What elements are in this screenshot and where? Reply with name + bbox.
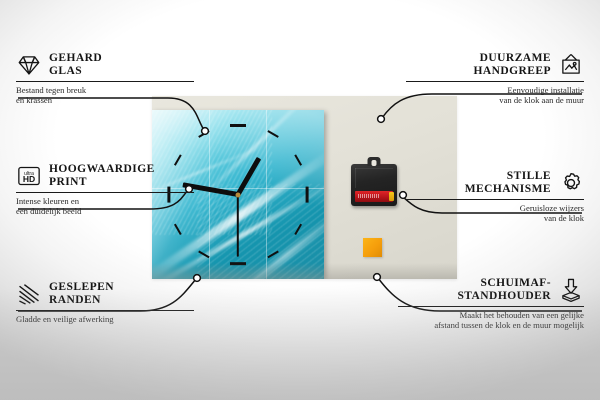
title-line-2: RANDEN bbox=[49, 294, 114, 307]
divider bbox=[16, 310, 194, 311]
desc-line-2: van de klok aan de muur bbox=[406, 95, 584, 105]
clock-mechanism bbox=[351, 164, 397, 206]
hanging-frame-icon bbox=[558, 52, 584, 78]
title-line-2: STANDHOUDER bbox=[457, 290, 551, 303]
feature-hoogwaardige-print: ultra HD HOOGWAARDIGE PRINT Intense kleu… bbox=[16, 163, 194, 217]
divider bbox=[16, 81, 194, 82]
feature-title: HOOGWAARDIGE PRINT bbox=[49, 163, 155, 188]
hour-marker bbox=[230, 124, 246, 127]
feature-description: Bestand tegen breuk en krassen bbox=[16, 85, 194, 106]
divider bbox=[398, 306, 584, 307]
title-line-2: HANDGREEP bbox=[473, 65, 551, 78]
diamond-icon bbox=[16, 52, 42, 78]
title-line-1: HOOGWAARDIGE bbox=[49, 163, 155, 176]
title-line-1: SCHUIMAF- bbox=[457, 277, 551, 290]
title-line-2: PRINT bbox=[49, 176, 155, 189]
feature-heading: DUURZAME HANDGREEP bbox=[406, 52, 584, 78]
feature-description: Gladde en veilige afwerking bbox=[16, 314, 194, 324]
feature-description: Maakt het behouden van een gelijke afsta… bbox=[398, 310, 584, 331]
desc-line-1: Intense kleuren en bbox=[16, 196, 194, 206]
feature-description: Intense kleuren en een duidelijk beeld bbox=[16, 196, 194, 217]
title-line-2: GLAS bbox=[49, 65, 102, 78]
divider bbox=[406, 199, 584, 200]
arrow-onto-layers-icon bbox=[558, 277, 584, 303]
hour-marker bbox=[230, 262, 246, 265]
feature-schuimafstandhouder: SCHUIMAF- STANDHOUDER Maakt het behouden… bbox=[398, 277, 584, 331]
feature-stille-mechanisme: STILLE MECHANISME Geruisloze wijzers van… bbox=[406, 170, 584, 224]
feature-title: DUURZAME HANDGREEP bbox=[473, 52, 551, 77]
title-line-1: DUURZAME bbox=[473, 52, 551, 65]
feature-title: GEHARD GLAS bbox=[49, 52, 102, 77]
second-hand bbox=[237, 195, 239, 257]
mechanism-housing-grid bbox=[355, 168, 393, 188]
desc-line-1: Bestand tegen breuk bbox=[16, 85, 194, 95]
title-line-2: MECHANISME bbox=[465, 183, 551, 196]
glass-panel-line bbox=[266, 110, 267, 279]
desc-line-2: afstand tussen de klok en de muur mogeli… bbox=[398, 320, 584, 330]
feature-title: GESLEPEN RANDEN bbox=[49, 281, 114, 306]
feature-title: SCHUIMAF- STANDHOUDER bbox=[457, 277, 551, 302]
feature-duurzame-handgreep: DUURZAME HANDGREEP Eenvoudige installati… bbox=[406, 52, 584, 106]
desc-line-1: Eenvoudige installatie bbox=[406, 85, 584, 95]
desc-line-2: een duidelijk beeld bbox=[16, 206, 194, 216]
feature-heading: GEHARD GLAS bbox=[16, 52, 194, 78]
foam-spacer bbox=[363, 238, 382, 257]
divider bbox=[16, 192, 194, 193]
desc-line-1: Geruisloze wijzers bbox=[406, 203, 584, 213]
title-line-1: STILLE bbox=[465, 170, 551, 183]
feature-description: Geruisloze wijzers van de klok bbox=[406, 203, 584, 224]
gear-icon bbox=[558, 170, 584, 196]
feature-geslepen-randen: GESLEPEN RANDEN Gladde en veilige afwerk… bbox=[16, 281, 194, 324]
battery-label bbox=[358, 194, 380, 198]
hands-center-cap bbox=[236, 192, 241, 197]
desc-line-1: Maakt het behouden van een gelijke bbox=[398, 310, 584, 320]
title-line-1: GESLEPEN bbox=[49, 281, 114, 294]
feature-heading: SCHUIMAF- STANDHOUDER bbox=[398, 277, 584, 303]
battery bbox=[355, 191, 393, 202]
feature-description: Eenvoudige installatie van de klok aan d… bbox=[406, 85, 584, 106]
desc-line-2: van de klok bbox=[406, 213, 584, 223]
divider bbox=[406, 81, 584, 82]
feature-heading: STILLE MECHANISME bbox=[406, 170, 584, 196]
feature-title: STILLE MECHANISME bbox=[465, 170, 551, 195]
desc-line-2: en krassen bbox=[16, 95, 194, 105]
ultra-hd-icon: ultra HD bbox=[16, 163, 42, 189]
mechanism-hanger-tab bbox=[368, 157, 381, 166]
hour-marker bbox=[294, 154, 302, 166]
feature-heading: GESLEPEN RANDEN bbox=[16, 281, 194, 307]
feature-heading: ultra HD HOOGWAARDIGE PRINT bbox=[16, 163, 194, 189]
infographic-stage: GEHARD GLAS Bestand tegen breuk en krass… bbox=[0, 0, 600, 400]
title-line-1: GEHARD bbox=[49, 52, 102, 65]
glass-panel-line bbox=[209, 110, 210, 279]
ultra-hd-icon-label-bottom: HD bbox=[23, 174, 35, 184]
hour-marker bbox=[305, 187, 308, 203]
diagonal-lines-icon bbox=[16, 281, 42, 307]
desc-line-1: Gladde en veilige afwerking bbox=[16, 314, 194, 324]
feature-gehard-glas: GEHARD GLAS Bestand tegen breuk en krass… bbox=[16, 52, 194, 106]
